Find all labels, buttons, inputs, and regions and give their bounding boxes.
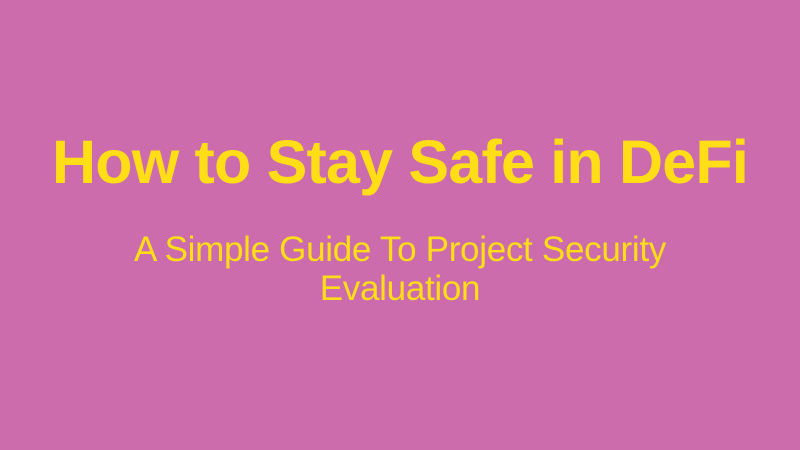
slide-subtitle-line-1: A Simple Guide To Project Security — [100, 230, 700, 269]
presentation-slide: How to Stay Safe in DeFi A Simple Guide … — [0, 0, 800, 450]
slide-subtitle-line-2: Evaluation — [100, 269, 700, 308]
slide-title: How to Stay Safe in DeFi — [0, 126, 800, 198]
slide-subtitle: A Simple Guide To Project Security Evalu… — [100, 230, 700, 308]
